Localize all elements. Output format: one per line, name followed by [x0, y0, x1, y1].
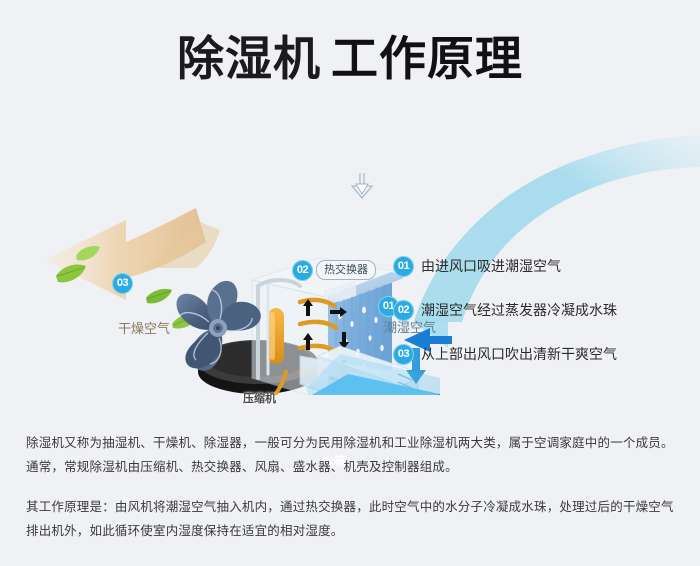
legend-text-02: 潮湿空气经过蒸发器冷凝成水珠 — [421, 301, 617, 321]
dehumidifier-infographic-page: 除湿机工作原理 — [0, 0, 700, 566]
page-title-part1: 除湿机 — [177, 32, 321, 87]
body-paragraph-1: 除湿机又称为抽湿机、干燥机、除湿器，一般可分为民用除湿机和工业除湿机两大类，属于… — [26, 431, 676, 479]
body-paragraph-2: 其工作原理是：由风机将潮湿空气抽入机内，通过热交换器，此时空气中的水分子冷凝成水… — [26, 495, 676, 543]
body-copy: 除湿机又称为抽湿机、干燥机、除湿器，一般可分为民用除湿机和工业除湿机两大类，属于… — [26, 418, 676, 555]
heat-exchanger-callout-pointer — [352, 173, 372, 198]
legend-item-01: 01 由进风口吸进潮湿空气 — [393, 256, 693, 278]
legend-badge-01: 01 — [393, 256, 414, 277]
diagram-label-dry-air: 干燥空气 — [118, 323, 170, 337]
legend-item-03: 03 从上部出风口吹出清新干爽空气 — [393, 344, 693, 366]
diagram-badge-dry-air: 03 — [112, 273, 133, 294]
diagram-label-heat-exchanger: 热交换器 — [316, 260, 376, 280]
page-title-part2: 工作原理 — [331, 32, 523, 87]
diagram-badge-heat-exchanger: 02 — [292, 260, 313, 281]
page-title: 除湿机工作原理 — [0, 32, 700, 88]
legend-text-01: 由进风口吸进潮湿空气 — [421, 257, 561, 277]
legend-item-02: 02 潮湿空气经过蒸发器冷凝成水珠 — [393, 300, 693, 322]
legend-text-03: 从上部出风口吹出清新干爽空气 — [421, 345, 617, 365]
legend-badge-02: 02 — [393, 300, 414, 321]
legend-list: 01 由进风口吸进潮湿空气 02 潮湿空气经过蒸发器冷凝成水珠 03 从上部出风… — [393, 256, 693, 388]
diagram-label-compressor: 压缩机 — [243, 392, 276, 406]
legend-badge-03: 03 — [393, 344, 414, 365]
